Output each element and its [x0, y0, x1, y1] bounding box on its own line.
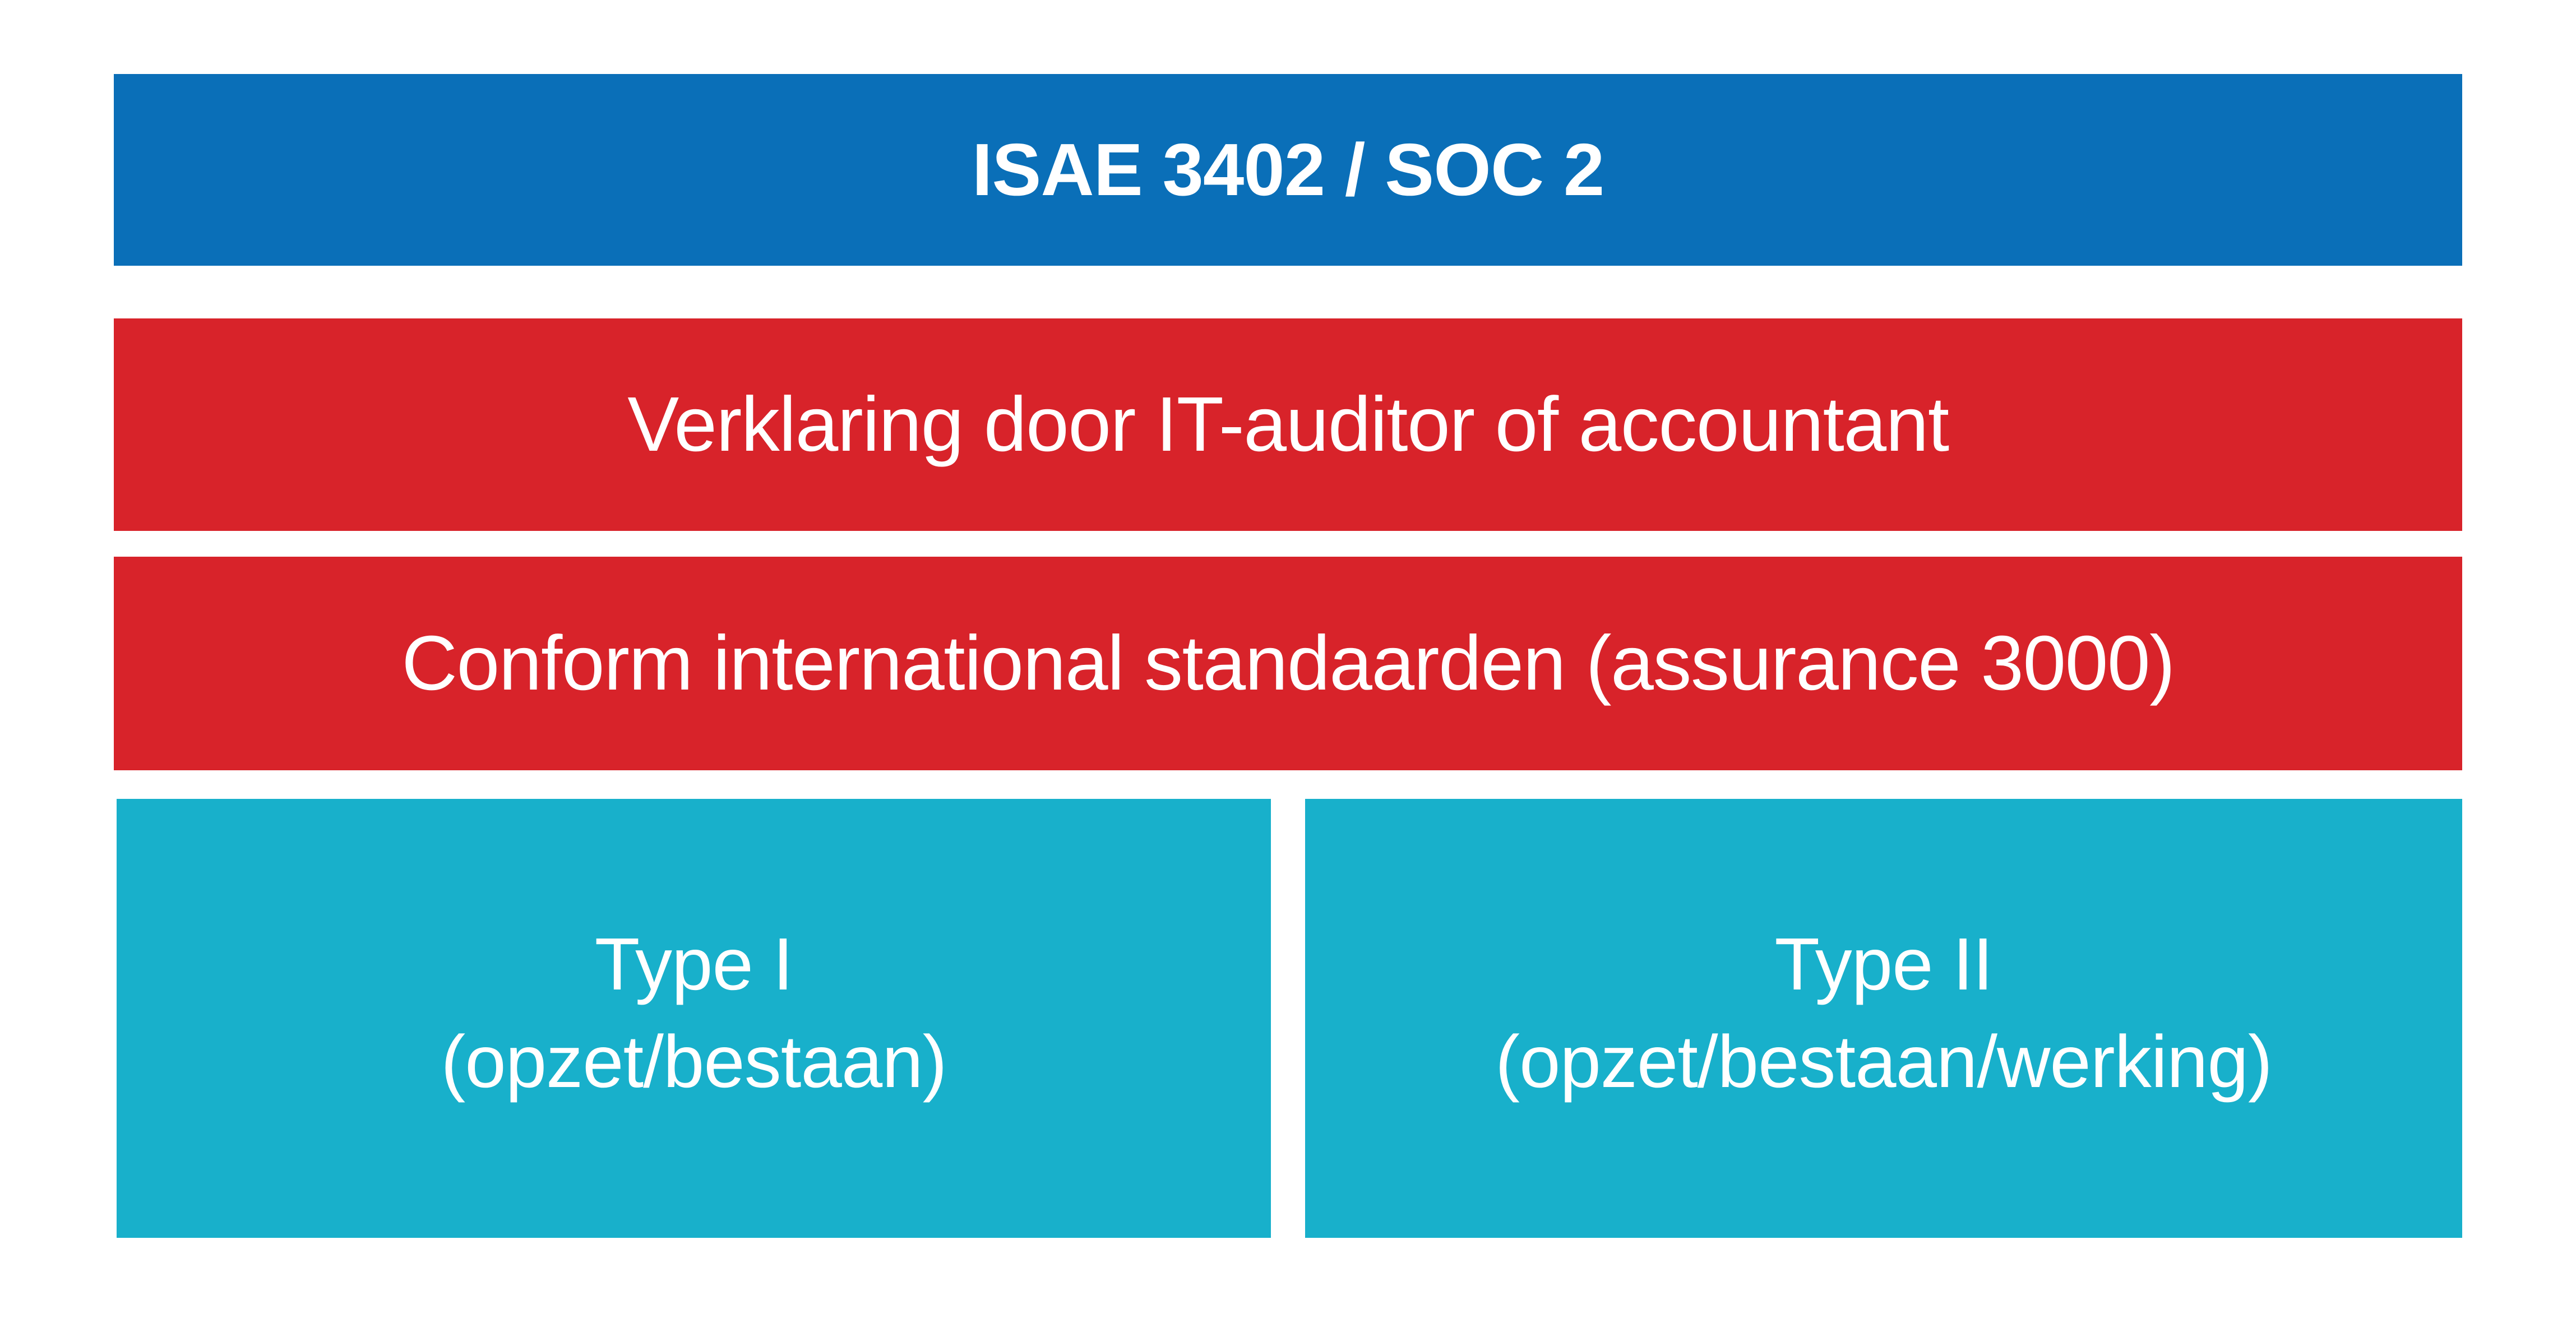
statement-band-auditor-declaration: Verklaring door IT-auditor of accountant — [114, 318, 2462, 531]
isae-soc-diagram: ISAE 3402 / SOC 2 Verklaring door IT-aud… — [0, 0, 2576, 1318]
header-band-label: ISAE 3402 / SOC 2 — [972, 131, 1604, 209]
statement-band-international-standards: Conform international standaarden (assur… — [114, 557, 2462, 770]
type-box-scope-2: (opzet/bestaan/werking) — [1495, 1013, 2272, 1111]
type-box-type-1: Type I (opzet/bestaan) — [117, 799, 1271, 1238]
statement-band-label-2: Conform international standaarden (assur… — [401, 623, 2174, 704]
statement-band-label-1: Verklaring door IT-auditor of accountant — [627, 384, 1948, 465]
type-box-name-2: Type II — [1495, 915, 2272, 1013]
type-box-scope-1: (opzet/bestaan) — [441, 1013, 946, 1111]
type-box-name-1: Type I — [441, 915, 946, 1013]
header-band-isae-soc: ISAE 3402 / SOC 2 — [114, 74, 2462, 266]
type-box-text-1: Type I (opzet/bestaan) — [441, 915, 946, 1111]
type-box-type-2: Type II (opzet/bestaan/werking) — [1305, 799, 2462, 1238]
type-box-text-2: Type II (opzet/bestaan/werking) — [1495, 915, 2272, 1111]
